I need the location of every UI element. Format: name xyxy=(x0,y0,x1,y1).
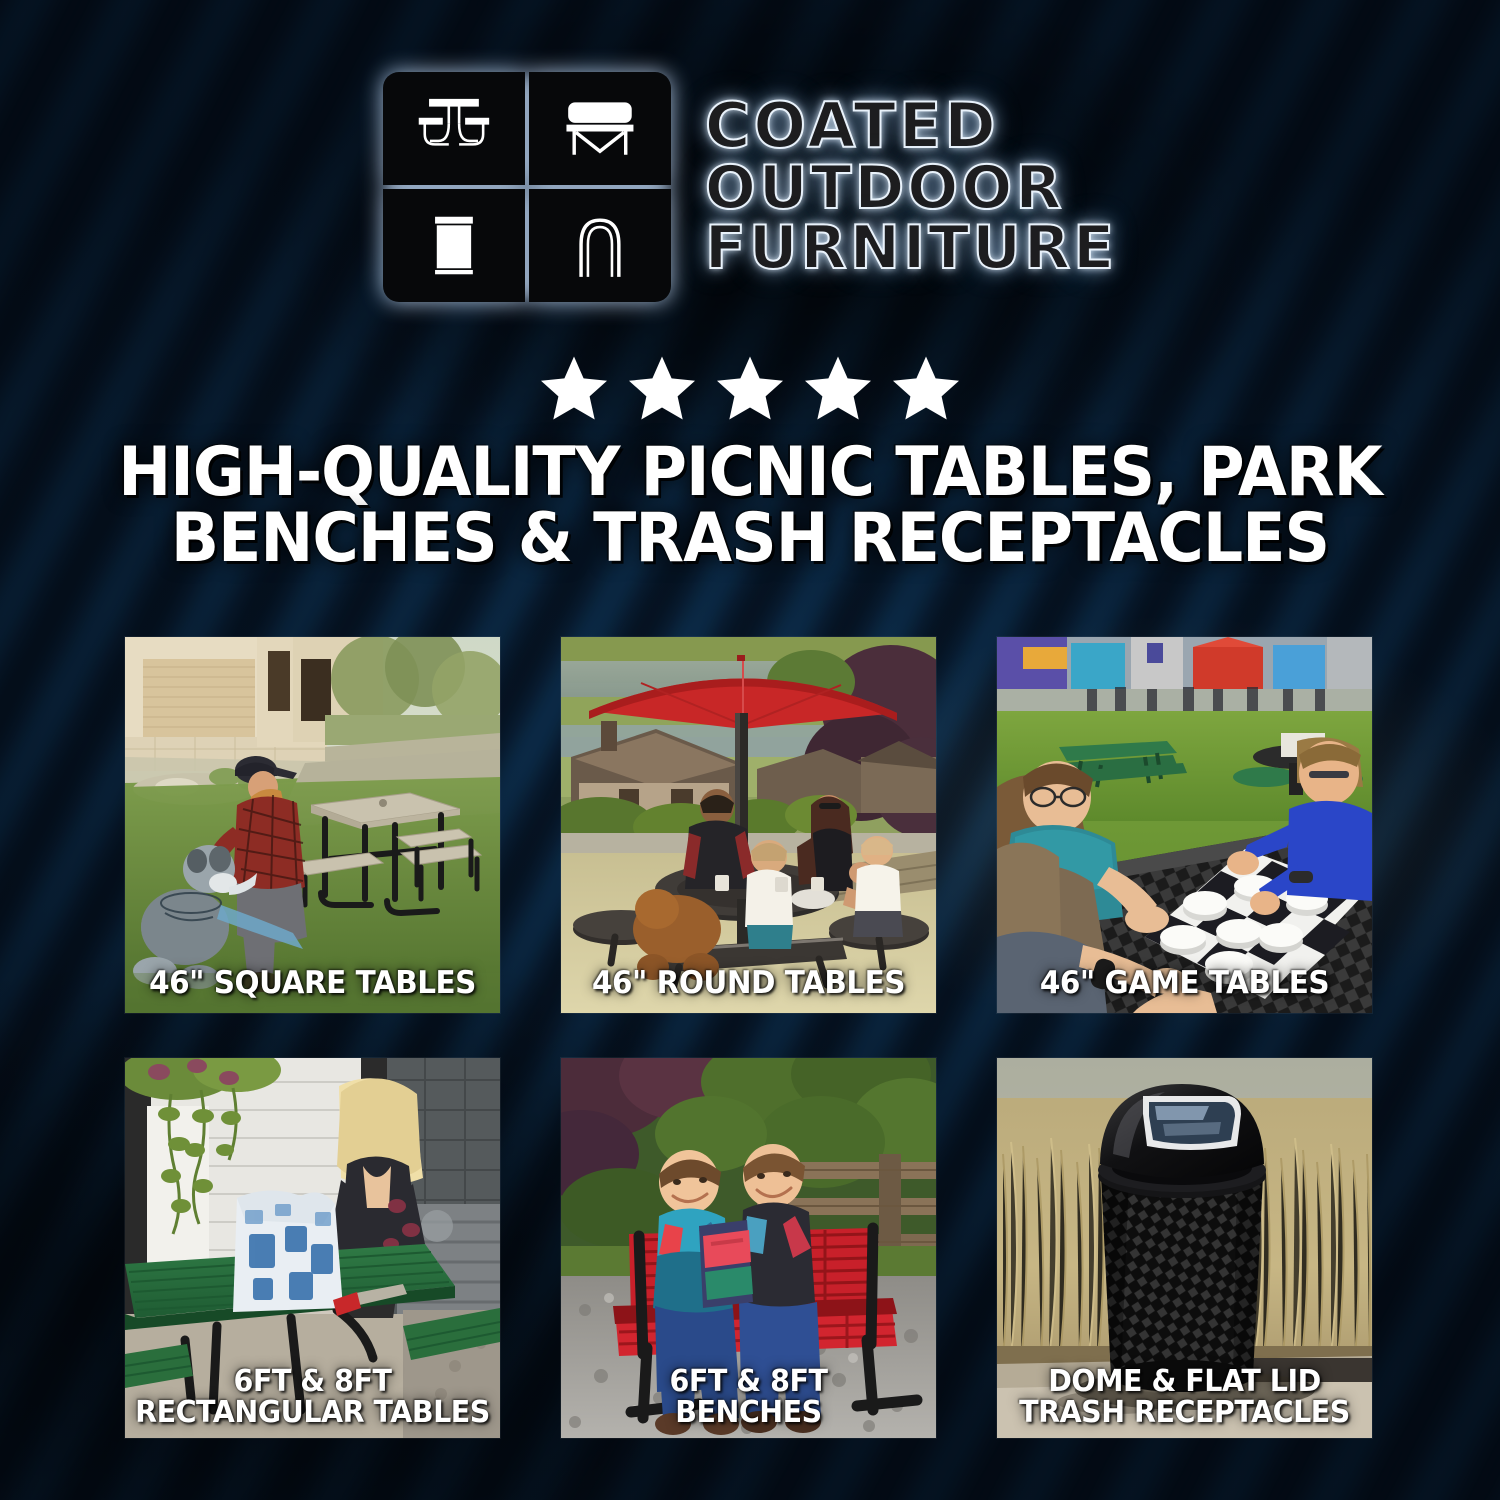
brand-logo: COATED OUTDOOR FURNITURE xyxy=(0,72,1500,302)
logo-icon-grid xyxy=(383,72,671,302)
caption-rectangular-tables: 6FT & 8FT RECTANGULAR TABLES xyxy=(134,1366,490,1428)
caption-benches: 6FT & 8FT BENCHES xyxy=(570,1366,926,1428)
caption-line-2: TRASH RECEPTACLES xyxy=(1006,1397,1362,1428)
star-icon xyxy=(713,352,787,424)
star-icon xyxy=(625,352,699,424)
caption-square-tables: 46" SQUARE TABLES xyxy=(134,968,490,999)
caption-game-tables: 46" GAME TABLES xyxy=(1006,968,1362,999)
park-bench-icon xyxy=(529,72,671,185)
caption-trash-receptacles: DOME & FLAT LID TRASH RECEPTACLES xyxy=(1006,1366,1362,1428)
star-icon xyxy=(537,352,611,424)
product-card-rectangular-tables[interactable]: 6FT & 8FT RECTANGULAR TABLES xyxy=(125,1058,500,1438)
product-card-round-tables[interactable]: 46" ROUND TABLES xyxy=(561,637,936,1013)
product-photo-game-tables xyxy=(997,637,1372,1013)
star-icon xyxy=(801,352,875,424)
caption-line-1: 6FT & 8FT xyxy=(134,1366,490,1397)
headline-line-2: BENCHES & TRASH RECEPTACLES xyxy=(108,506,1391,572)
wordmark-line-2: OUTDOOR xyxy=(705,159,1117,218)
caption-line-1: 6FT & 8FT xyxy=(570,1366,926,1397)
caption-line-2: RECTANGULAR TABLES xyxy=(134,1397,490,1428)
caption-line-2: BENCHES xyxy=(570,1397,926,1428)
poster-content: COATED OUTDOOR FURNITURE HIGH-QUALITY PI… xyxy=(0,0,1500,1500)
caption-line-1: DOME & FLAT LID xyxy=(1006,1366,1362,1397)
star-rating xyxy=(0,352,1500,424)
poster-canvas: COATED OUTDOOR FURNITURE HIGH-QUALITY PI… xyxy=(0,0,1500,1500)
wordmark-line-1: COATED xyxy=(705,96,1117,157)
trash-receptacle-icon xyxy=(383,189,525,302)
product-photo-square-tables xyxy=(125,637,500,1013)
caption-round-tables: 46" ROUND TABLES xyxy=(570,968,926,999)
product-card-trash-receptacles[interactable]: DOME & FLAT LID TRASH RECEPTACLES xyxy=(997,1058,1372,1438)
product-photo-round-tables xyxy=(561,637,936,1013)
headline-line-1: HIGH-QUALITY PICNIC TABLES, PARK xyxy=(108,440,1391,506)
product-card-benches[interactable]: 6FT & 8FT BENCHES xyxy=(561,1058,936,1438)
star-icon xyxy=(889,352,963,424)
page-title: HIGH-QUALITY PICNIC TABLES, PARK BENCHES… xyxy=(108,440,1391,572)
caption-line-1: 46" ROUND TABLES xyxy=(570,968,926,999)
wordmark-line-3: FURNITURE xyxy=(705,219,1117,278)
product-card-game-tables[interactable]: 46" GAME TABLES xyxy=(997,637,1372,1013)
brand-wordmark: COATED OUTDOOR FURNITURE xyxy=(705,96,1117,278)
picnic-table-icon xyxy=(383,72,525,185)
caption-line-1: 46" SQUARE TABLES xyxy=(134,968,490,999)
caption-line-1: 46" GAME TABLES xyxy=(1006,968,1362,999)
product-card-square-tables[interactable]: 46" SQUARE TABLES xyxy=(125,637,500,1013)
product-grid: 46" SQUARE TABLES xyxy=(125,637,1377,1438)
bike-rack-icon xyxy=(529,189,671,302)
